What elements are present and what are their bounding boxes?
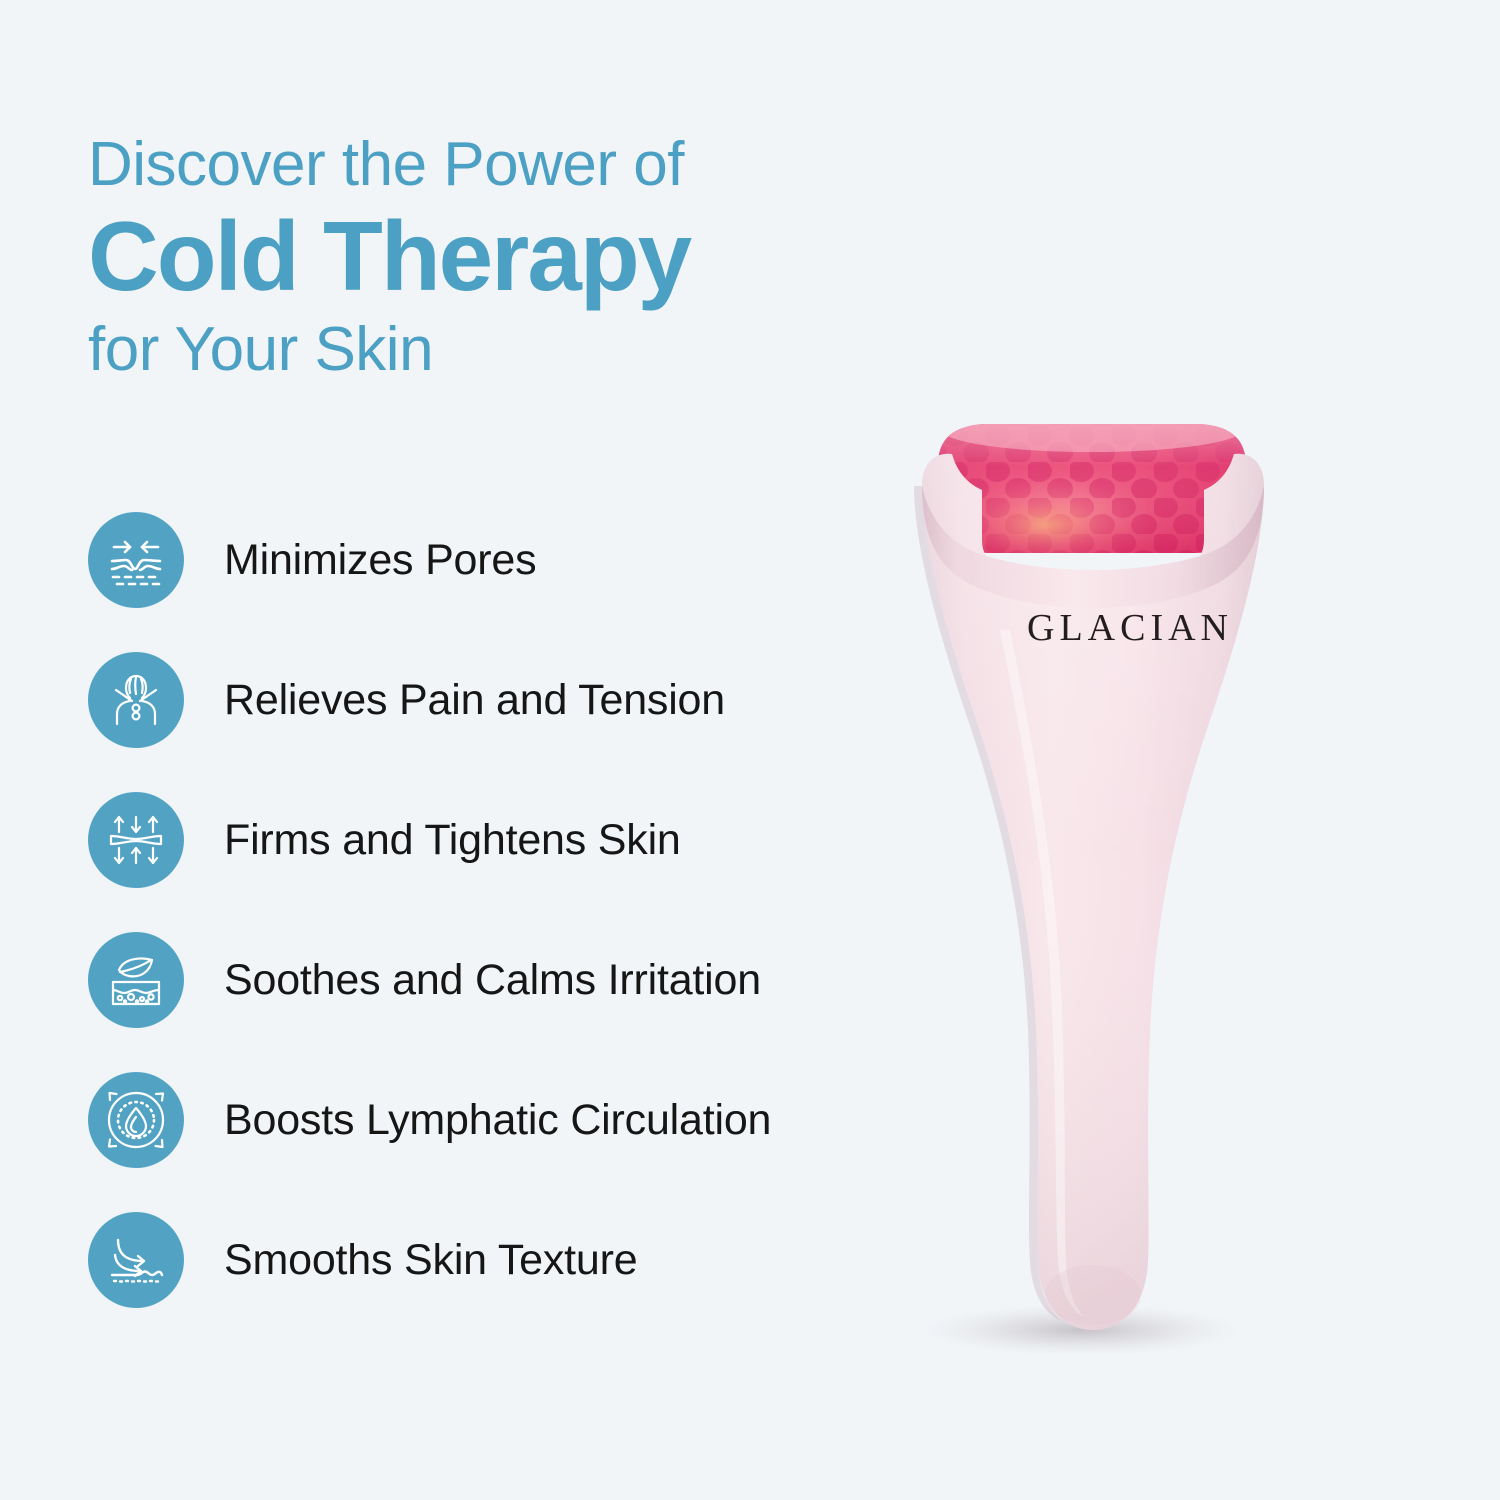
feature-item-relieves-pain: Relieves Pain and Tension xyxy=(88,630,928,770)
feature-label: Firms and Tightens Skin xyxy=(224,816,681,865)
headline-line-1: Discover the Power of xyxy=(88,128,948,202)
product-image-ice-roller: GLACIAN xyxy=(860,390,1400,1400)
leaf-soothing-skin-layer-icon xyxy=(88,932,184,1028)
feature-label: Minimizes Pores xyxy=(224,536,536,585)
lymphatic-circulation-droplet-icon xyxy=(88,1072,184,1168)
feature-list: Minimizes Pores xyxy=(88,490,928,1330)
infographic-canvas: Discover the Power of Cold Therapy for Y… xyxy=(0,0,1500,1500)
feature-item-soothes-calms: Soothes and Calms Irritation xyxy=(88,910,928,1050)
headline-line-3: for Your Skin xyxy=(88,310,948,390)
feature-label: Boosts Lymphatic Circulation xyxy=(224,1096,771,1145)
headline-line-2: Cold Therapy xyxy=(88,202,948,310)
smooth-skin-texture-icon xyxy=(88,1212,184,1308)
pore-minimize-icon xyxy=(88,512,184,608)
ice-roller-illustration xyxy=(860,390,1400,1400)
page-title: Discover the Power of Cold Therapy for Y… xyxy=(88,128,948,390)
feature-item-minimizes-pores: Minimizes Pores xyxy=(88,490,928,630)
pain-relief-head-neck-icon xyxy=(88,652,184,748)
feature-item-firms-tightens: Firms and Tightens Skin xyxy=(88,770,928,910)
feature-label: Soothes and Calms Irritation xyxy=(224,956,761,1005)
feature-label: Smooths Skin Texture xyxy=(224,1236,637,1285)
skin-firming-arrows-icon xyxy=(88,792,184,888)
feature-item-lymphatic-circulation: Boosts Lymphatic Circulation xyxy=(88,1050,928,1190)
feature-label: Relieves Pain and Tension xyxy=(224,676,725,725)
roller-handle xyxy=(914,454,1264,1330)
feature-item-smooths-texture: Smooths Skin Texture xyxy=(88,1190,928,1330)
